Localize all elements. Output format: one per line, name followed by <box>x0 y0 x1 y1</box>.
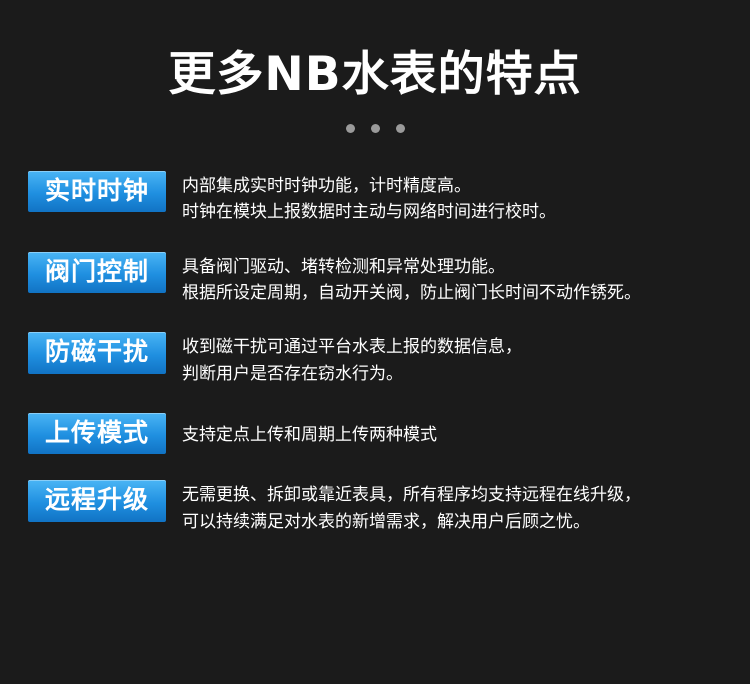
feature-desc-line: 支持定点上传和周期上传两种模式 <box>182 422 726 448</box>
page-title: 更多NB水表的特点 <box>0 0 750 102</box>
feature-desc-anti-magnetic: 收到磁干扰可通过平台水表上报的数据信息， 判断用户是否存在窃水行为。 <box>166 332 726 387</box>
feature-list: 实时时钟 内部集成实时时钟功能，计时精度高。 时钟在模块上报数据时主动与网络时间… <box>0 171 750 535</box>
feature-tag-remote-upgrade: 远程升级 <box>28 480 166 521</box>
feature-item-anti-magnetic: 防磁干扰 收到磁干扰可通过平台水表上报的数据信息， 判断用户是否存在窃水行为。 <box>28 332 726 387</box>
feature-desc-realtime-clock: 内部集成实时时钟功能，计时精度高。 时钟在模块上报数据时主动与网络时间进行校时。 <box>166 171 726 226</box>
feature-desc-valve-control: 具备阀门驱动、堵转检测和异常处理功能。 根据所设定周期，自动开关阀，防止阀门长时… <box>166 252 726 307</box>
feature-desc-line: 可以持续满足对水表的新增需求，解决用户后顾之忧。 <box>182 509 726 535</box>
carousel-dot-3[interactable] <box>396 124 405 133</box>
feature-tag-valve-control: 阀门控制 <box>28 252 166 293</box>
feature-desc-line: 时钟在模块上报数据时主动与网络时间进行校时。 <box>182 199 726 225</box>
feature-desc-remote-upgrade: 无需更换、拆卸或靠近表具，所有程序均支持远程在线升级， 可以持续满足对水表的新增… <box>166 480 726 535</box>
feature-desc-line: 收到磁干扰可通过平台水表上报的数据信息， <box>182 334 726 360</box>
feature-tag-anti-magnetic: 防磁干扰 <box>28 332 166 373</box>
feature-desc-upload-mode: 支持定点上传和周期上传两种模式 <box>166 413 726 448</box>
page-root: 更多NB水表的特点 实时时钟 内部集成实时时钟功能，计时精度高。 时钟在模块上报… <box>0 0 750 684</box>
feature-desc-line: 判断用户是否存在窃水行为。 <box>182 361 726 387</box>
feature-item-remote-upgrade: 远程升级 无需更换、拆卸或靠近表具，所有程序均支持远程在线升级， 可以持续满足对… <box>28 480 726 535</box>
feature-desc-line: 无需更换、拆卸或靠近表具，所有程序均支持远程在线升级， <box>182 482 726 508</box>
carousel-dot-2[interactable] <box>371 124 380 133</box>
feature-item-valve-control: 阀门控制 具备阀门驱动、堵转检测和异常处理功能。 根据所设定周期，自动开关阀，防… <box>28 252 726 307</box>
feature-tag-realtime-clock: 实时时钟 <box>28 171 166 212</box>
carousel-dot-1[interactable] <box>346 124 355 133</box>
feature-item-realtime-clock: 实时时钟 内部集成实时时钟功能，计时精度高。 时钟在模块上报数据时主动与网络时间… <box>28 171 726 226</box>
feature-desc-line: 具备阀门驱动、堵转检测和异常处理功能。 <box>182 254 726 280</box>
feature-item-upload-mode: 上传模式 支持定点上传和周期上传两种模式 <box>28 413 726 454</box>
feature-tag-upload-mode: 上传模式 <box>28 413 166 454</box>
carousel-dots <box>0 124 750 133</box>
feature-desc-line: 内部集成实时时钟功能，计时精度高。 <box>182 173 726 199</box>
feature-desc-line: 根据所设定周期，自动开关阀，防止阀门长时间不动作锈死。 <box>182 280 726 306</box>
